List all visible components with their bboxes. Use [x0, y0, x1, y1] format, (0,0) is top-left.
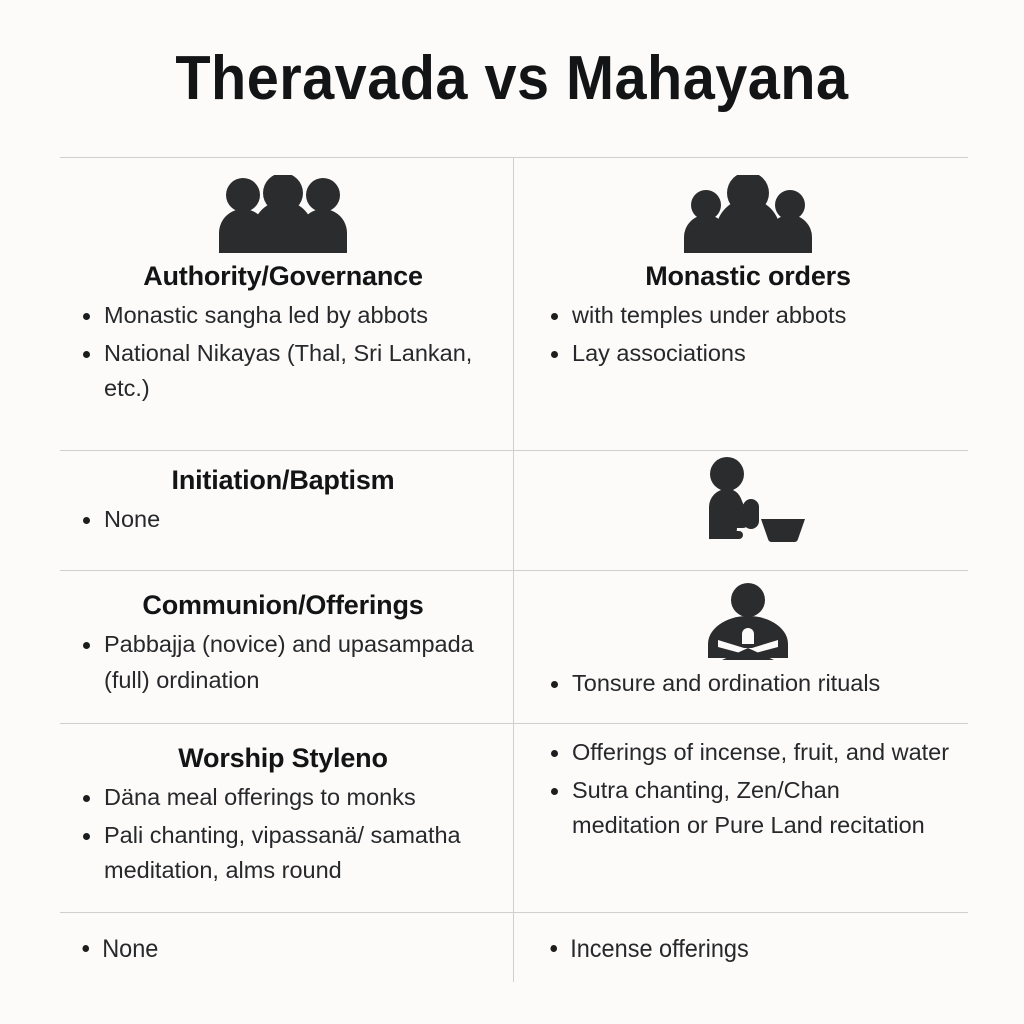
people-group-icon: [542, 175, 954, 253]
table-cell-mahayana: Offerings of incense, fruit, and water S…: [514, 735, 968, 891]
table-cell-theravada: None: [60, 930, 514, 970]
cell-bullet-list: Monastic sangha led by abbots National N…: [74, 298, 492, 407]
list-item: None: [74, 502, 492, 538]
table-rule-top: [60, 157, 968, 158]
list-item: Däna meal offerings to monks: [74, 780, 492, 816]
list-item: Incense offerings: [542, 930, 929, 968]
table-cell-theravada: Worship Styleno Däna meal offerings to m…: [60, 735, 514, 891]
table-cell-mahayana: Incense offerings: [514, 930, 968, 970]
cell-bullet-list: with temples under abbots Lay associatio…: [542, 298, 954, 371]
cell-heading: Communion/Offerings: [74, 590, 492, 621]
table-cell-mahayana: Tonsure and ordination rituals: [514, 582, 968, 704]
cell-bullet-list: Offerings of incense, fruit, and water S…: [542, 735, 954, 844]
table-row: None Incense offerings: [60, 930, 968, 970]
table-rule-1: [60, 450, 968, 451]
list-item: Lay associations: [542, 336, 954, 372]
table-rule-3: [60, 723, 968, 724]
infographic-poster: Theravada vs Mahayana: [0, 0, 1024, 1024]
table-row: Worship Styleno Däna meal offerings to m…: [60, 735, 968, 891]
table-cell-mahayana: Monastic orders with temples under abbot…: [514, 175, 968, 409]
cell-bullet-list: Tonsure and ordination rituals: [542, 666, 954, 702]
cell-bullet-list: None: [74, 930, 492, 968]
table-rule-4: [60, 912, 968, 913]
list-item: Monastic sangha led by abbots: [74, 298, 492, 334]
meditating-person-icon: [542, 582, 954, 666]
table-row: Communion/Offerings Pabbajja (novice) an…: [60, 582, 968, 704]
people-group-icon: [74, 175, 492, 253]
list-item: Pabbajja (novice) and upasampada (full) …: [74, 627, 492, 698]
list-item: Tonsure and ordination rituals: [542, 666, 954, 702]
table-cell-mahayana: [514, 457, 968, 543]
table-cell-theravada: Communion/Offerings Pabbajja (novice) an…: [60, 582, 514, 704]
list-item: National Nikayas (Thal, Sri Lankan, etc.…: [74, 336, 492, 407]
cell-bullet-list: Incense offerings: [542, 930, 954, 968]
table-row: Authority/Governance Monastic sangha led…: [60, 175, 968, 409]
cell-bullet-list: Pabbajja (novice) and upasampada (full) …: [74, 627, 492, 698]
list-item: None: [74, 930, 467, 968]
cell-heading: Monastic orders: [542, 261, 954, 292]
cell-heading: Initiation/Baptism: [74, 465, 492, 496]
table-cell-theravada: Initiation/Baptism None: [60, 457, 514, 543]
page-title-container: Theravada vs Mahayana: [0, 46, 1024, 111]
list-item: Pali chanting, vipassanä/ samatha medita…: [74, 818, 492, 889]
cell-bullet-list: None: [74, 502, 492, 538]
table-rule-2: [60, 570, 968, 571]
cell-bullet-list: Däna meal offerings to monks Pali chanti…: [74, 780, 492, 889]
kneeling-person-with-bowl-icon: [542, 457, 954, 543]
cell-heading: Worship Styleno: [74, 743, 492, 774]
cell-heading: Authority/Governance: [74, 261, 492, 292]
list-item: with temples under abbots: [542, 298, 954, 334]
page-title: Theravada vs Mahayana: [175, 46, 848, 111]
list-item: Sutra chanting, Zen/Chan meditation or P…: [542, 773, 954, 844]
table-row: Initiation/Baptism None: [60, 457, 968, 543]
table-cell-theravada: Authority/Governance Monastic sangha led…: [60, 175, 514, 409]
list-item: Offerings of incense, fruit, and water: [542, 735, 954, 771]
